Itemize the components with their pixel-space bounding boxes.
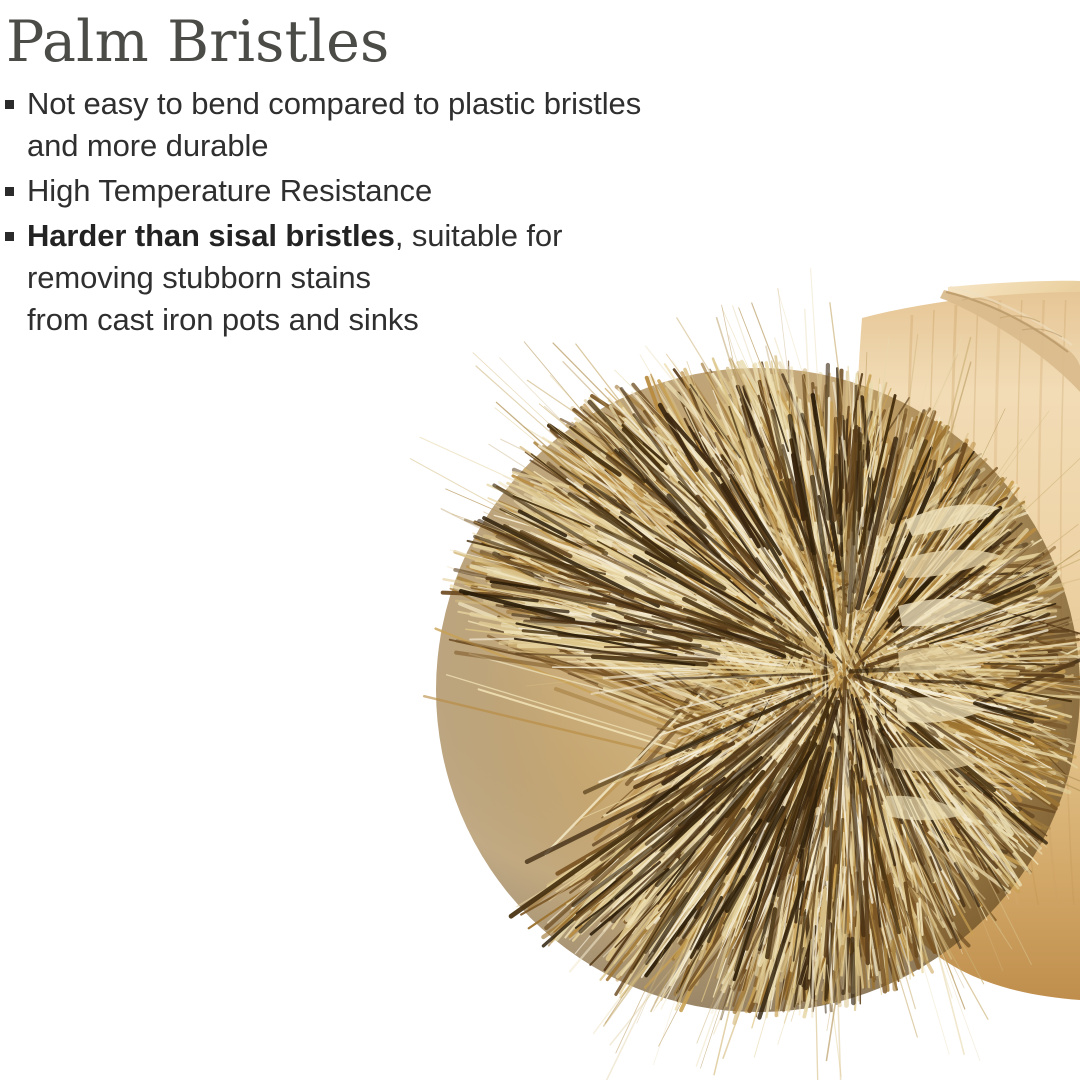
page-title: Palm Bristles: [0, 0, 900, 71]
feature-line: removing stubborn stains: [27, 257, 900, 299]
feature-text: High Temperature Resistance: [27, 170, 900, 212]
feature-item-heat-resistance: High Temperature Resistance: [0, 170, 900, 212]
feature-line: and more durable: [27, 125, 900, 167]
feature-bold-phrase: Harder than sisal bristles: [27, 218, 395, 253]
feature-text: Not easy to bend compared to plastic bri…: [27, 83, 900, 167]
bullet-square-icon: [5, 232, 14, 241]
feature-line: High Temperature Resistance: [27, 170, 900, 212]
feature-line-emphasis: Harder than sisal bristles, suitable for: [27, 215, 900, 257]
feature-rest-phrase: , suitable for: [395, 218, 562, 253]
infographic-page: Palm Bristles Not easy to bend compared …: [0, 0, 1080, 1080]
feature-text: Harder than sisal bristles, suitable for…: [27, 215, 900, 341]
feature-bullet-list: Not easy to bend compared to plastic bri…: [0, 71, 900, 341]
feature-item-hardness: Harder than sisal bristles, suitable for…: [0, 215, 900, 341]
feature-item-bend-resistance: Not easy to bend compared to plastic bri…: [0, 83, 900, 167]
bullet-square-icon: [5, 187, 14, 196]
feature-line: from cast iron pots and sinks: [27, 299, 900, 341]
feature-line: Not easy to bend compared to plastic bri…: [27, 83, 900, 125]
bullet-square-icon: [5, 100, 14, 109]
copy-block: Palm Bristles Not easy to bend compared …: [0, 0, 900, 344]
